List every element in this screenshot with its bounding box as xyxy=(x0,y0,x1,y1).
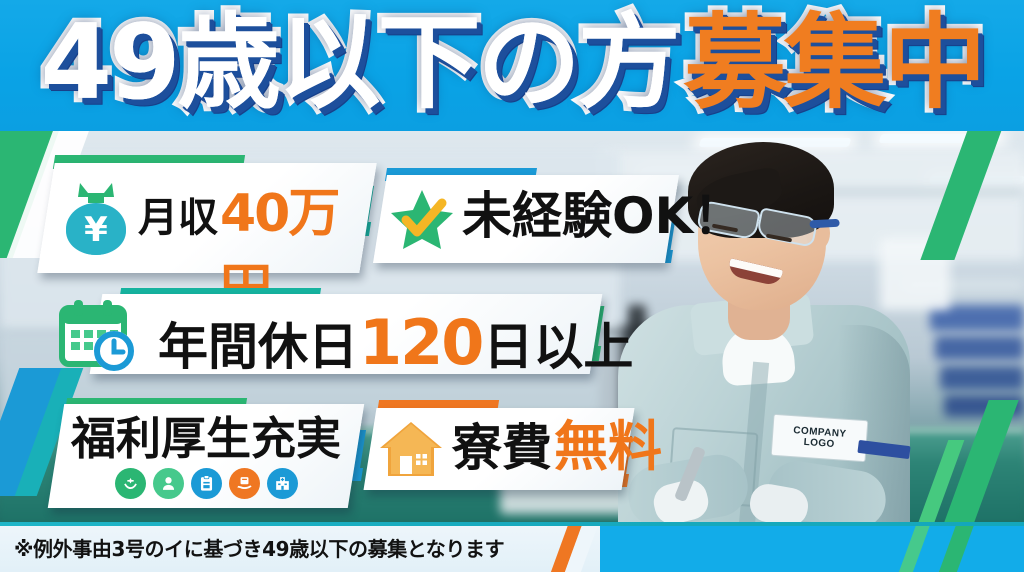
badge-monthly-income[interactable]: ¥ 月収 40万円 以上可能 xyxy=(37,163,376,273)
bin-row xyxy=(935,336,1024,360)
clipboard-icon xyxy=(191,468,222,499)
footer-top-rule xyxy=(0,522,1024,526)
badge-annual-holidays[interactable]: 年間休日 120 日以上 xyxy=(90,294,603,374)
svg-text:¥: ¥ xyxy=(84,210,108,250)
house-icon xyxy=(378,418,444,480)
badge-welfare-text: 福利厚生充実 xyxy=(71,416,341,461)
headline-accent: 募集中 xyxy=(684,12,984,115)
headline-main: 49歳以下の方 xyxy=(40,12,677,115)
badge-dorm-free-text: 寮費 無料 xyxy=(452,420,662,474)
footer-note: ※例外事由3号のイに基づき49歳以下の募集となります xyxy=(14,533,504,562)
hand-money-icon xyxy=(229,468,260,499)
recruitment-banner: COMPANY LOGO xyxy=(0,0,1024,572)
badge-dorm-free[interactable]: 寮費 無料 xyxy=(364,408,635,490)
badge-annual-holidays-text: 年間休日 120 日以上 xyxy=(158,306,633,379)
badge-no-experience[interactable]: 未経験OK！ xyxy=(373,175,679,263)
hospital-icon xyxy=(267,468,298,499)
name-patch: COMPANY LOGO xyxy=(771,414,869,463)
badge-dorm-free-accent: 無料 xyxy=(554,420,662,474)
badge-no-experience-text: 未経験OK！ xyxy=(462,191,743,241)
hands-heart-icon xyxy=(115,468,146,499)
footer-band: ※例外事由3号のイに基づき49歳以下の募集となります xyxy=(0,522,1024,572)
footer-green-diagonal xyxy=(899,522,931,572)
glasses-temple xyxy=(809,219,839,229)
badge-annual-holidays-number: 120 xyxy=(359,306,482,379)
name-patch-line2: LOGO xyxy=(803,437,835,451)
header-band: 49歳以下の方 募集中 xyxy=(0,0,1024,131)
star-check-icon xyxy=(390,187,454,251)
headline: 49歳以下の方 募集中 xyxy=(0,0,1024,131)
badge-annual-holidays-label: 年間休日 xyxy=(158,322,358,372)
calendar-clock-icon xyxy=(56,296,142,374)
badge-dorm-free-label: 寮費 xyxy=(452,423,552,473)
footer-green-diagonal-2 xyxy=(939,522,975,572)
person-support-icon xyxy=(153,468,184,499)
badge-annual-holidays-suffix: 日以上 xyxy=(483,322,633,372)
badge-monthly-income-label: 月収 xyxy=(138,198,218,238)
badge-welfare[interactable]: 福利厚生充実 xyxy=(48,404,364,508)
money-bag-icon: ¥ xyxy=(58,179,134,259)
bin-row xyxy=(940,366,1024,390)
welfare-icon-row xyxy=(115,468,298,499)
